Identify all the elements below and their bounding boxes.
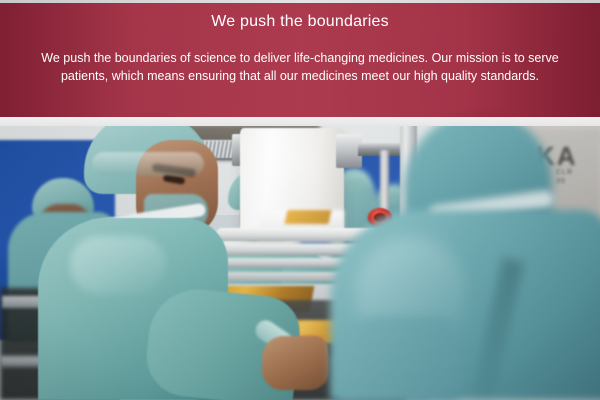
banner-body-text: We push the boundaries of science to del…	[36, 32, 564, 85]
worker-main-shoulder-highlight	[70, 236, 166, 294]
worker-main-cap-fold	[92, 152, 204, 176]
hero-banner: We push the boundaries We push the bound…	[0, 3, 600, 117]
product-blister-strip-upper	[285, 210, 332, 224]
sign-secondary-text: CLR35	[556, 168, 573, 186]
banner-title: We push the boundaries	[36, 3, 564, 32]
banner-underline-strip	[0, 117, 600, 126]
worker-foreground-arm	[338, 316, 458, 400]
worker-main-hand	[262, 336, 328, 390]
banner-top-edge	[0, 0, 600, 3]
page-root: KA CLR35	[0, 0, 600, 400]
